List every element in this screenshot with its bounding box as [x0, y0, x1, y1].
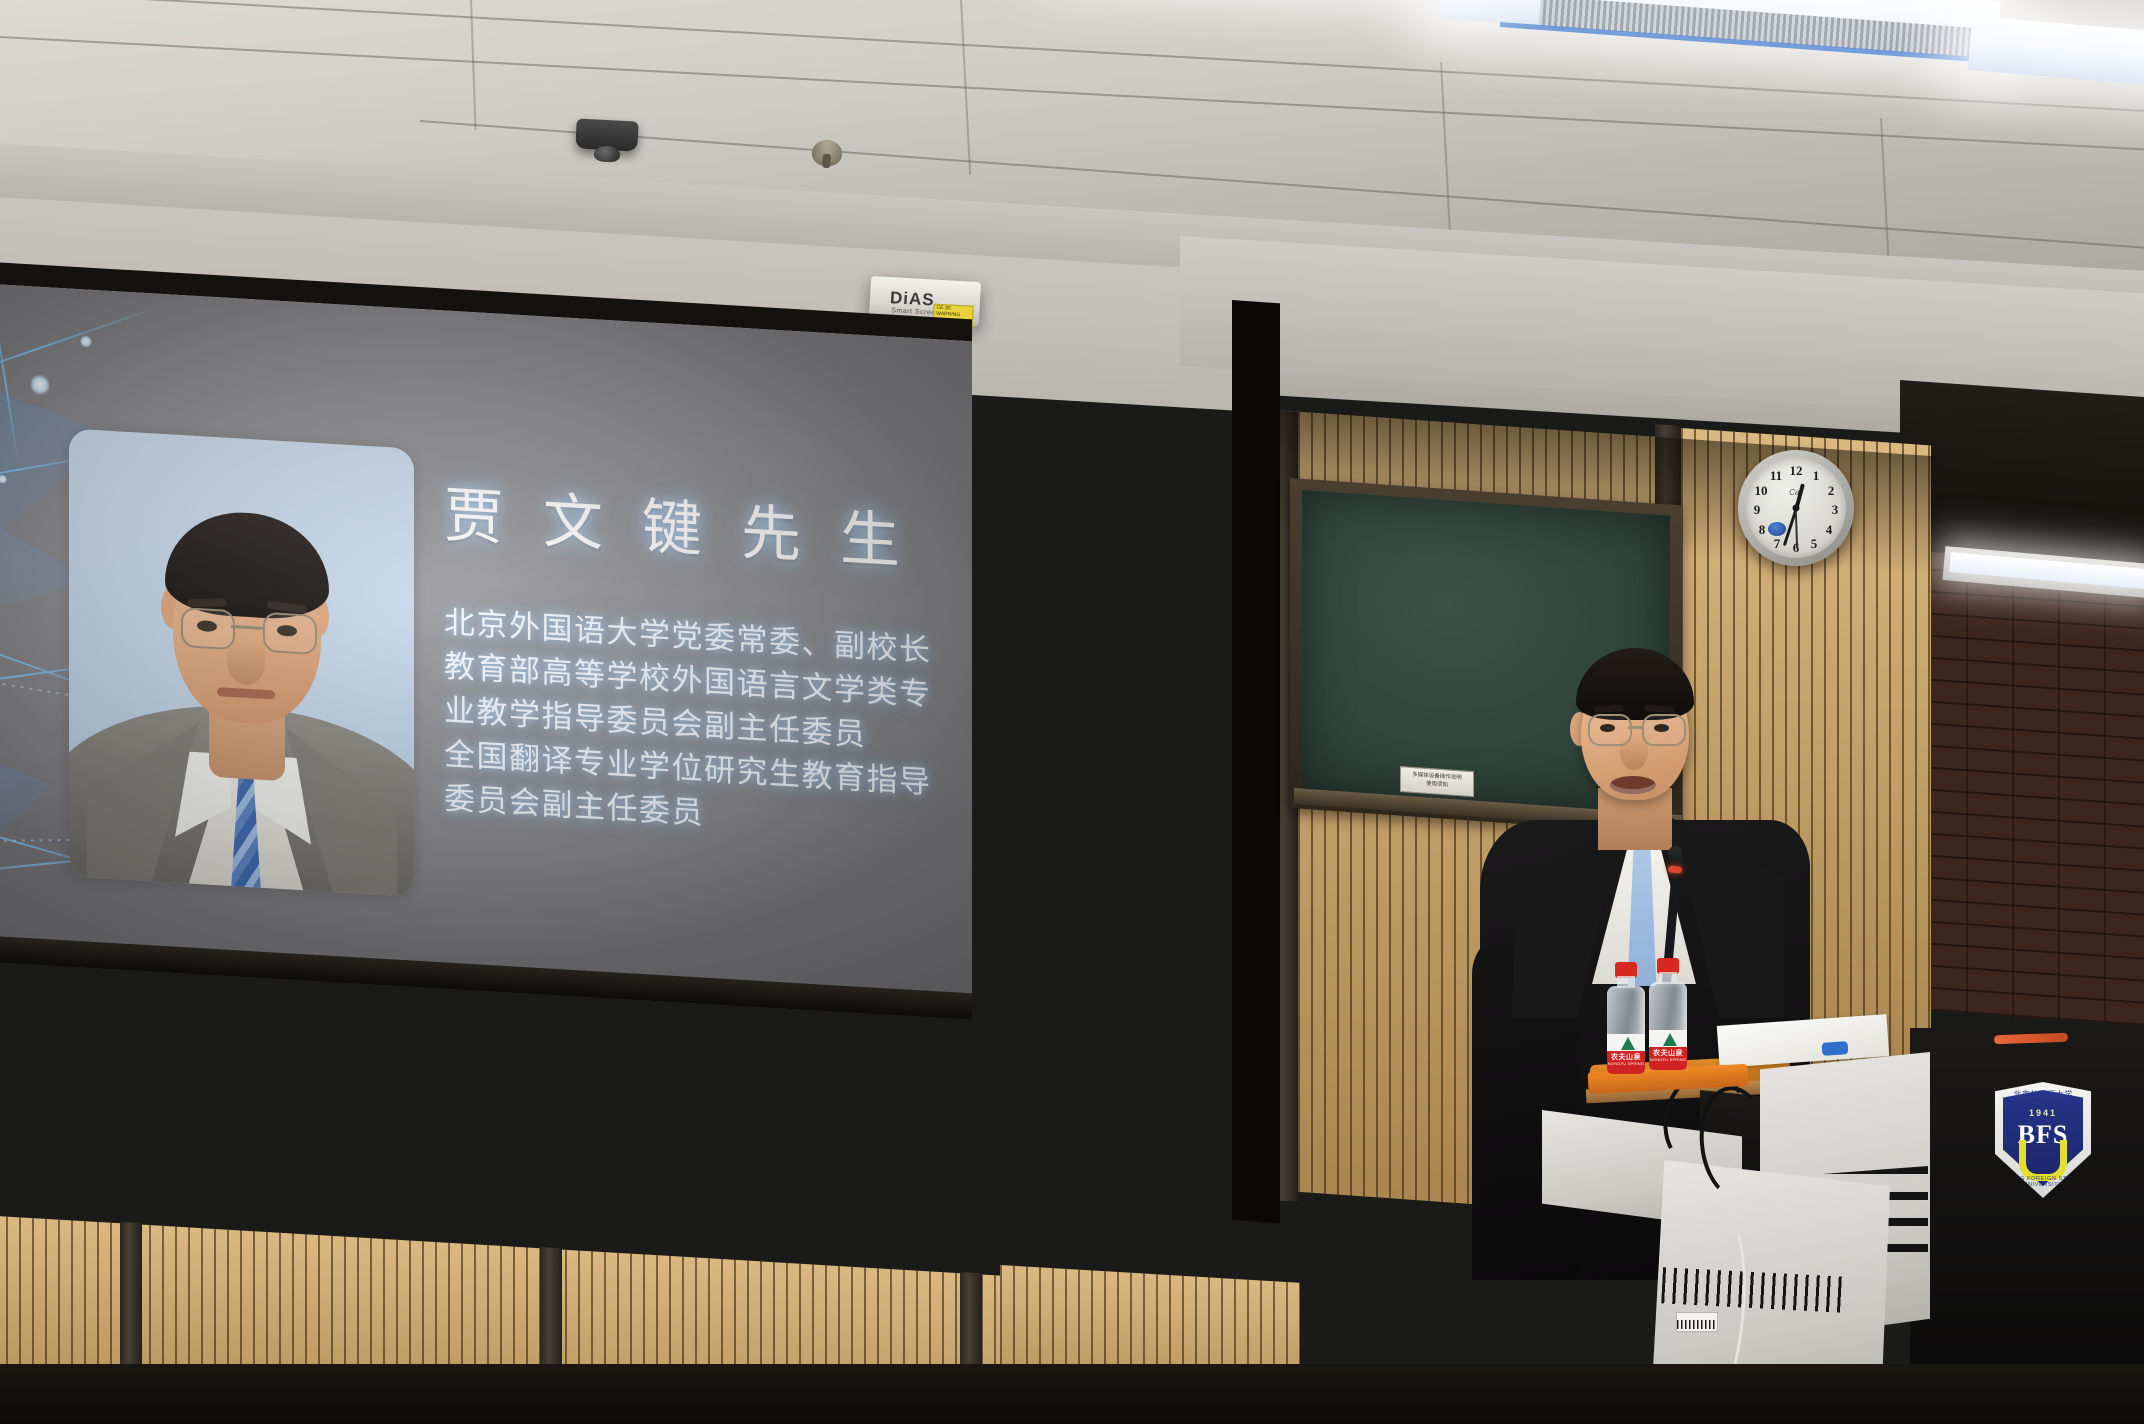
- brick-wall: [1920, 540, 2144, 1026]
- clock-numeral: 1: [1813, 468, 1820, 484]
- podium-logo-u-icon: [2019, 1140, 2067, 1181]
- bottle-tree-icon: [1663, 1033, 1677, 1046]
- clock-face: Cali 12 1 2 3 4 5 6 7 8 9 10 11: [1746, 458, 1846, 558]
- lectern-clip: [1822, 1041, 1849, 1056]
- photo-scene: DiAS Smart Screen CE 3C WARNING: [0, 0, 2144, 1424]
- slide-surface: 贾 文 键 先 生 北京外国语大学党委常委、副校长 教育部高等学校外国语言文学类…: [0, 284, 972, 993]
- sprinkler-head-icon: [811, 139, 842, 167]
- clock-numeral: 3: [1832, 502, 1839, 518]
- speaker-mouth: [1610, 776, 1656, 794]
- clock-badge-icon: [1768, 522, 1786, 536]
- speaker-glasses-icon: [1642, 714, 1686, 746]
- clock-numeral: 2: [1828, 483, 1835, 499]
- projection-screen: 贾 文 键 先 生 北京外国语大学党委常委、副校长 教育部高等学校外国语言文学类…: [0, 262, 972, 1019]
- podium-logo-year: 1941: [1995, 1108, 2091, 1118]
- slide-body-text: 北京外国语大学党委常委、副校长 教育部高等学校外国语言文学类专 业教学指导委员会…: [444, 600, 944, 849]
- sensor-dome-icon: [594, 145, 621, 162]
- water-bottle: 农夫山泉 NONGFU SPRING: [1648, 958, 1688, 1070]
- water-bottle: 农夫山泉 NONGFU SPRING: [1606, 962, 1646, 1074]
- bottle-tree-icon: [1621, 1037, 1635, 1050]
- floor: [0, 1364, 2144, 1424]
- bottle-label: 农夫山泉 NONGFU SPRING: [1649, 1030, 1687, 1070]
- chalkboard-notice-sign: 多媒体设备操作说明 使用须知: [1400, 766, 1474, 797]
- slide-title: 贾 文 键 先 生: [444, 466, 912, 580]
- clock-numeral: 11: [1770, 468, 1782, 484]
- clock-numeral: 4: [1826, 522, 1833, 538]
- bottle-brand-en: NONGFU SPRING: [1607, 1061, 1645, 1066]
- dark-recess: [1900, 380, 2144, 567]
- clock-numeral: 8: [1759, 522, 1766, 538]
- bottle-label: 农夫山泉 NONGFU SPRING: [1607, 1034, 1645, 1074]
- ceiling-light-panel: [1968, 16, 2144, 91]
- clock-numeral: 5: [1811, 536, 1818, 552]
- clock-numeral: 7: [1774, 536, 1781, 552]
- portrait-glasses-icon: [263, 612, 317, 655]
- podium-logo-name-cn: 北京外国语大学: [1995, 1089, 2091, 1100]
- clock-second-hand: [1795, 509, 1798, 549]
- wall-gap: [1232, 300, 1280, 1223]
- microphone-indicator-light: [1668, 865, 1683, 873]
- portrait-photo: [69, 429, 414, 897]
- clock-numeral: 9: [1754, 502, 1761, 518]
- clock-numeral: 10: [1755, 483, 1768, 499]
- bottle-brand-en: NONGFU SPRING: [1649, 1057, 1687, 1062]
- clock-numeral: 12: [1790, 463, 1803, 479]
